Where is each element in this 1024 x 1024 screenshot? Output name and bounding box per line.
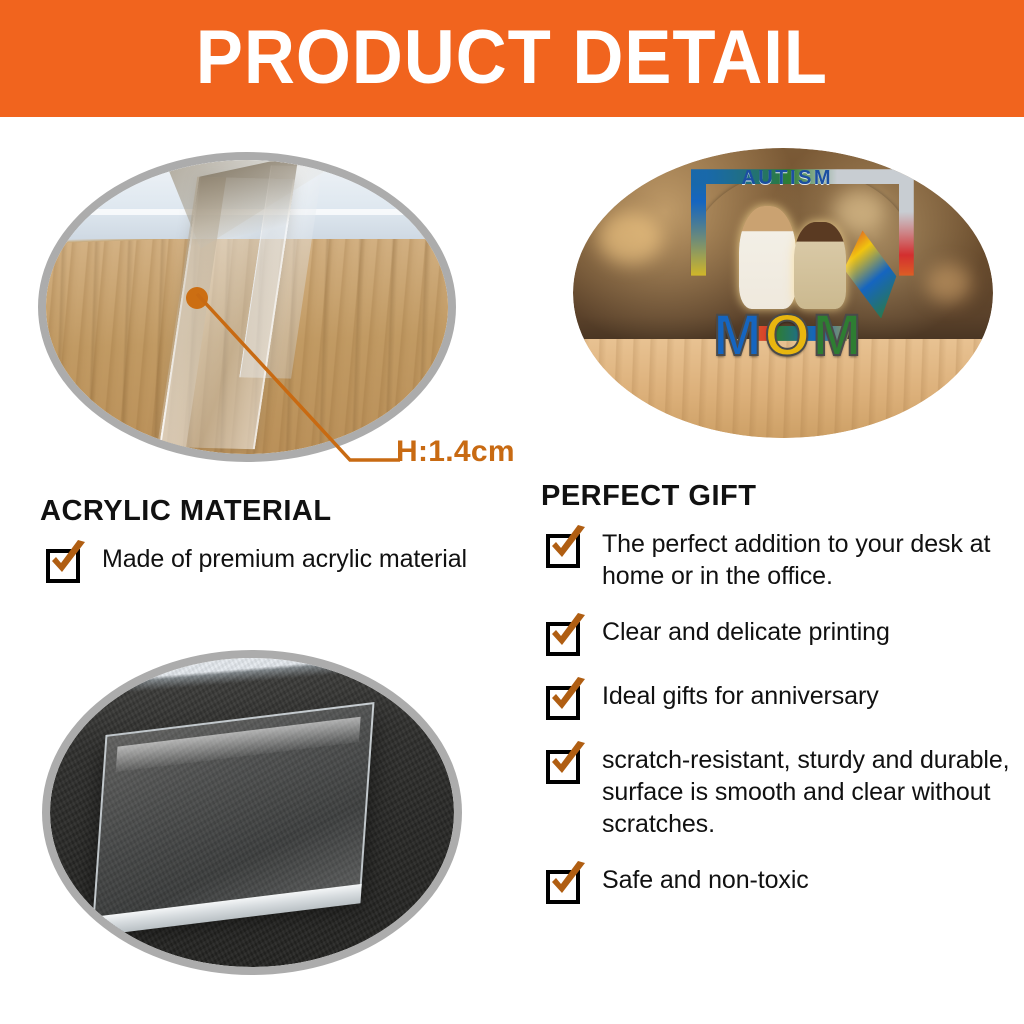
list-item-text: Clear and delicate printing (602, 616, 890, 648)
list-item-text: Made of premium acrylic material (102, 543, 467, 575)
mom-letter-2: O (765, 310, 810, 361)
heading-perfect-gift: PERFECT GIFT (541, 480, 756, 513)
autism-mom-plaque-artwork: AUTISM M O M (682, 165, 892, 356)
feature-list-acrylic-material: Made of premium acrylic material (46, 543, 516, 607)
list-item: scratch-resistant, sturdy and durable, s… (546, 744, 1016, 840)
checkbox-checked-icon (546, 682, 584, 720)
heading-acrylic-material: ACRYLIC MATERIAL (40, 495, 332, 528)
photo-slab-inner (50, 658, 454, 967)
check-mark-icon (548, 861, 590, 903)
list-item-text: Safe and non-toxic (602, 864, 809, 896)
bokeh-light-1 (598, 212, 662, 264)
check-mark-icon (548, 677, 590, 719)
thickness-callout-label: H:1.4cm (396, 435, 515, 469)
feature-list-perfect-gift: The perfect addition to your desk at hom… (546, 528, 1016, 928)
list-item: Made of premium acrylic material (46, 543, 516, 583)
check-mark-icon (548, 525, 590, 567)
artwork-autism-text: AUTISM (741, 167, 833, 190)
list-item-text: scratch-resistant, sturdy and durable, s… (602, 744, 1016, 840)
list-item: Safe and non-toxic (546, 864, 1016, 904)
checkbox-checked-icon (46, 545, 84, 583)
mom-letter-1: M (713, 310, 761, 361)
check-mark-icon (548, 613, 590, 655)
checkbox-checked-icon (546, 866, 584, 904)
acrylic-slab (93, 702, 375, 921)
thickness-callout-dot (186, 287, 208, 309)
mother-figure (739, 206, 796, 309)
check-mark-icon (48, 540, 90, 582)
list-item-text: Ideal gifts for anniversary (602, 680, 879, 712)
list-item: Clear and delicate printing (546, 616, 1016, 656)
mom-letter-3: M (813, 310, 861, 361)
bokeh-light-3 (926, 264, 972, 304)
photo-product-inner: AUTISM M O M (573, 148, 993, 438)
checkbox-checked-icon (546, 530, 584, 568)
photo-thickness-inner (46, 160, 448, 454)
mother-and-child-figures (737, 206, 846, 309)
photo-acrylic-slab (42, 650, 462, 975)
list-item-text: The perfect addition to your desk at hom… (602, 528, 1016, 592)
photo-product-on-table: AUTISM M O M (573, 148, 993, 438)
checkbox-checked-icon (546, 746, 584, 784)
artwork-mom-letters: M O M (703, 296, 871, 361)
check-mark-icon (548, 741, 590, 783)
header-banner: PRODUCT DETAIL (0, 0, 1024, 117)
list-item: Ideal gifts for anniversary (546, 680, 1016, 720)
checkbox-checked-icon (546, 618, 584, 656)
list-item: The perfect addition to your desk at hom… (546, 528, 1016, 592)
photo-acrylic-thickness (38, 152, 456, 462)
page-title: PRODUCT DETAIL (196, 20, 828, 96)
